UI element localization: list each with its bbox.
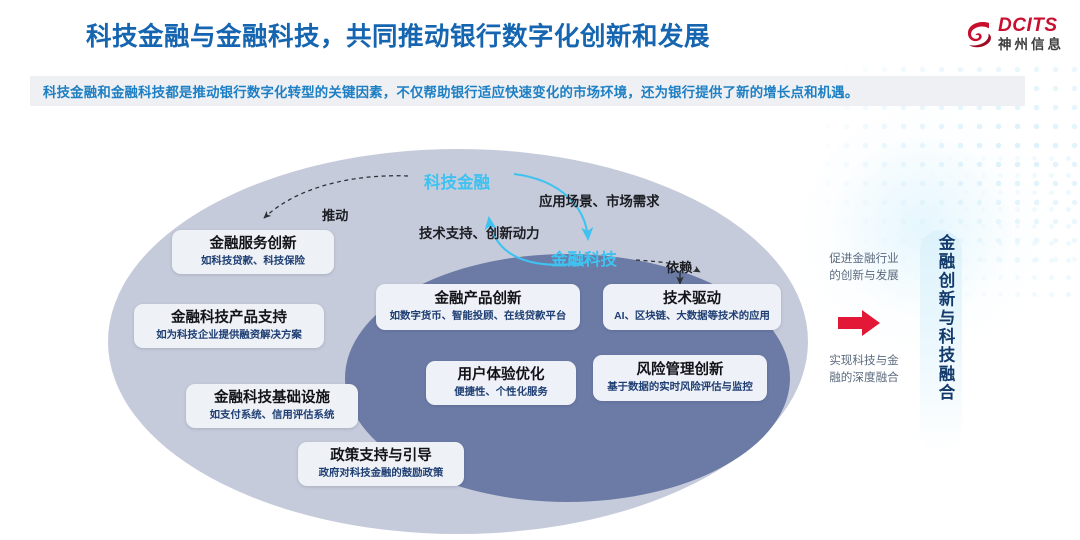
subtitle-bar: 科技金融和金融科技都是推动银行数字化转型的关键因素，不仅帮助银行适应快速变化的市… — [30, 76, 1025, 106]
card-fintech-infrastructure[interactable]: 金融科技基础设施 如支付系统、信用评估系统 — [186, 384, 358, 428]
card-financial-product-innovation[interactable]: 金融产品创新 如数字货币、智能投顾、在线贷款平台 — [376, 284, 580, 330]
card-title: 金融服务创新 — [210, 236, 297, 253]
side-note-bottom-line1: 实现科技与金 — [829, 354, 899, 367]
side-note-bottom: 实现科技与金 融的深度融合 — [818, 352, 910, 387]
brand-logo: DCITS 神州信息 — [966, 16, 1064, 52]
card-risk-management-innovation[interactable]: 风险管理创新 基于数据的实时风险评估与监控 — [593, 355, 767, 401]
label-rely: 依赖 — [666, 257, 692, 276]
card-subtitle: 基于数据的实时风险评估与监控 — [607, 382, 752, 394]
label-push: 推动 — [322, 205, 348, 224]
card-subtitle: 便捷性、个性化服务 — [454, 387, 548, 399]
card-title: 技术驱动 — [663, 291, 721, 308]
logo-text-cn: 神州信息 — [998, 38, 1064, 52]
card-title: 政策支持与引导 — [330, 448, 432, 465]
logo-text-en: DCITS — [998, 16, 1064, 35]
card-subtitle: 如支付系统、信用评估系统 — [210, 410, 335, 422]
card-title: 金融科技产品支持 — [171, 310, 287, 327]
side-note-bottom-line2: 融的深度融合 — [829, 371, 899, 384]
side-note-top-line2: 的创新与发展 — [829, 269, 899, 282]
card-title: 用户体验优化 — [458, 367, 545, 384]
slide-root: 科技金融与金融科技，共同推动银行数字化创新和发展 DCITS 神州信息 科技金融… — [0, 0, 1080, 540]
card-fintech-product-support[interactable]: 金融科技产品支持 如为科技企业提供融资解决方案 — [134, 304, 324, 348]
vertical-title-text: 金融创新与科技融合 — [925, 234, 957, 402]
label-tech-support: 技术支持、创新动力 — [419, 222, 540, 242]
subtitle-text: 科技金融和金融科技都是推动银行数字化转型的关键因素，不仅帮助银行适应快速变化的市… — [30, 81, 858, 101]
label-tech-finance: 科技金融 — [424, 169, 490, 193]
side-note-top-line1: 促进金融行业 — [829, 252, 899, 265]
label-scenario-demand: 应用场景、市场需求 — [539, 190, 660, 210]
card-subtitle: 如数字货币、智能投顾、在线贷款平台 — [390, 311, 567, 323]
diagram-canvas: 科技金融 金融科技 推动 依赖 应用场景、市场需求 技术支持、创新动力 金融服务… — [0, 112, 1080, 540]
card-subtitle: 如为科技企业提供融资解决方案 — [156, 330, 301, 342]
dcits-swirl-icon — [966, 19, 992, 49]
page-title: 科技金融与金融科技，共同推动银行数字化创新和发展 — [86, 16, 710, 53]
label-fintech: 金融科技 — [551, 246, 617, 270]
card-technology-driven[interactable]: 技术驱动 AI、区块链、大数据等技术的应用 — [603, 284, 781, 330]
card-subtitle: 政府对科技金融的鼓励政策 — [319, 468, 444, 480]
card-policy-support[interactable]: 政策支持与引导 政府对科技金融的鼓励政策 — [298, 442, 464, 486]
logo-wordmark: DCITS 神州信息 — [998, 16, 1064, 52]
card-title: 风险管理创新 — [637, 362, 724, 379]
card-user-experience-optimization[interactable]: 用户体验优化 便捷性、个性化服务 — [426, 361, 576, 405]
red-arrow-icon — [836, 308, 882, 338]
side-note-top: 促进金融行业 的创新与发展 — [818, 250, 910, 285]
card-financial-service-innovation[interactable]: 金融服务创新 如科技贷款、科技保险 — [172, 230, 334, 274]
card-subtitle: AI、区块链、大数据等技术的应用 — [614, 311, 770, 323]
card-title: 金融科技基础设施 — [214, 390, 330, 407]
card-title: 金融产品创新 — [435, 291, 522, 308]
card-subtitle: 如科技贷款、科技保险 — [201, 256, 305, 268]
